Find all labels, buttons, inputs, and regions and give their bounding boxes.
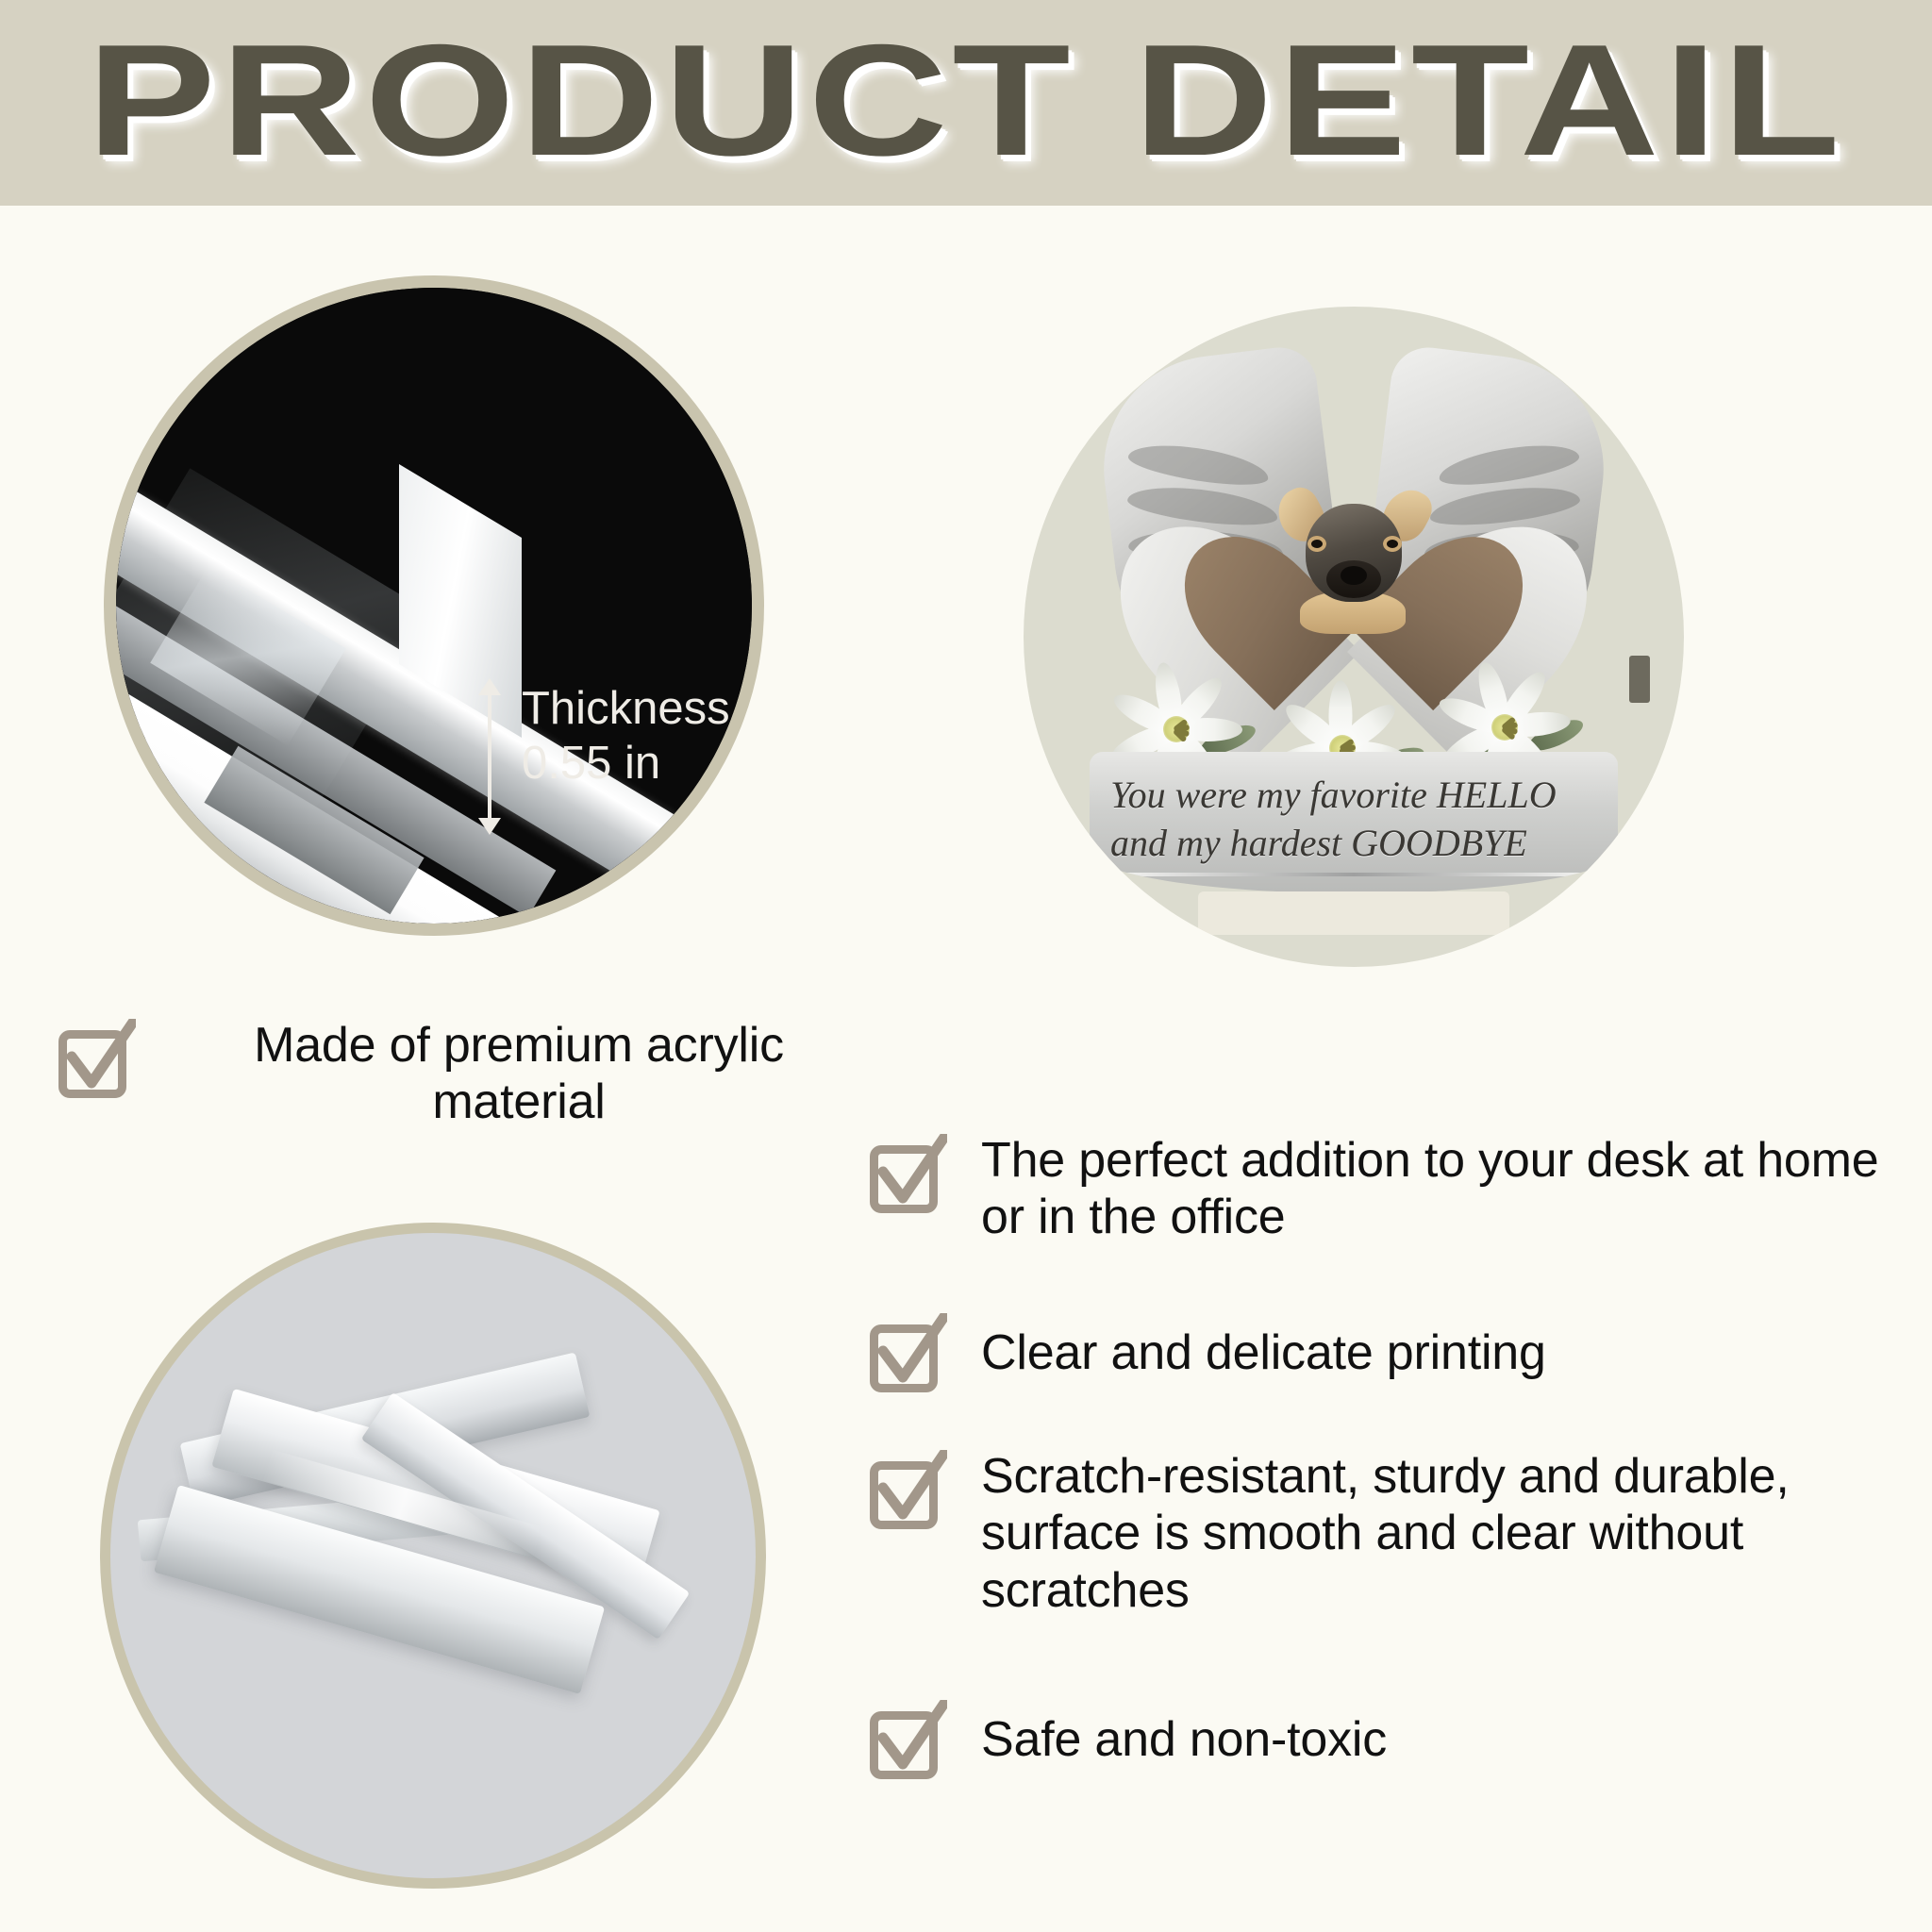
check-glyph-icon: [877, 1450, 947, 1525]
thickness-callout: Thickness 0.55 in: [522, 682, 758, 791]
plaque-inscription: You were my favorite HELLO and my hardes…: [1110, 771, 1618, 867]
feature-label-desk: The perfect addition to your desk at hom…: [981, 1132, 1906, 1246]
checkmark-icon: [866, 1315, 947, 1396]
checkmark-icon: [55, 1021, 136, 1102]
checkmark-icon: [866, 1452, 947, 1533]
feature-item-scratch: Scratch-resistant, sturdy and durable, s…: [866, 1448, 1923, 1619]
thickness-value-text: 0.55 in: [522, 737, 758, 791]
feature-label-safe: Safe and non-toxic: [981, 1711, 1906, 1768]
feature-label-scratch: Scratch-resistant, sturdy and durable, s…: [981, 1448, 1906, 1619]
puppy-portrait: [1283, 487, 1424, 628]
feature-item-printing: Clear and delicate printing: [866, 1311, 1923, 1396]
feature-item-desk: The perfect addition to your desk at hom…: [866, 1132, 1923, 1246]
heart-photo-inset: [1240, 459, 1468, 663]
feature-item-safe: Safe and non-toxic: [866, 1698, 1923, 1783]
check-glyph-icon: [877, 1700, 947, 1775]
feature-label-acrylic: Made of premium acrylic material: [170, 1017, 868, 1131]
header-banner: PRODUCT DETAIL: [0, 0, 1932, 206]
checkmark-icon: [866, 1702, 947, 1783]
heart-photo-frame: [1198, 420, 1509, 703]
checkmark-icon: [866, 1136, 947, 1217]
acrylic-sheet-stack: [148, 1346, 714, 1771]
feature-item-acrylic: Made of premium acrylic material: [55, 1017, 885, 1131]
memorial-plaque-photo: You were my favorite HELLO and my hardes…: [1024, 307, 1684, 967]
plaque-edge-notch: [1629, 656, 1650, 703]
thickness-label-text: Thickness: [522, 682, 758, 737]
check-glyph-icon: [877, 1134, 947, 1209]
feature-label-printing: Clear and delicate printing: [981, 1324, 1906, 1381]
check-glyph-icon: [66, 1019, 136, 1094]
acrylic-edge-photo: Thickness 0.55 in: [104, 275, 764, 936]
plaque-inscription-line2: and my hardest GOODBYE: [1110, 819, 1618, 867]
acrylic-sheets-photo: [100, 1223, 766, 1889]
thickness-arrow-icon: [488, 693, 491, 820]
plaque-engraved-base: You were my favorite HELLO and my hardes…: [1090, 752, 1618, 893]
plaque-inscription-line1: You were my favorite HELLO: [1110, 771, 1618, 819]
check-glyph-icon: [877, 1313, 947, 1389]
page-title: PRODUCT DETAIL: [87, 21, 1845, 185]
plaque-stand: [1198, 891, 1509, 935]
